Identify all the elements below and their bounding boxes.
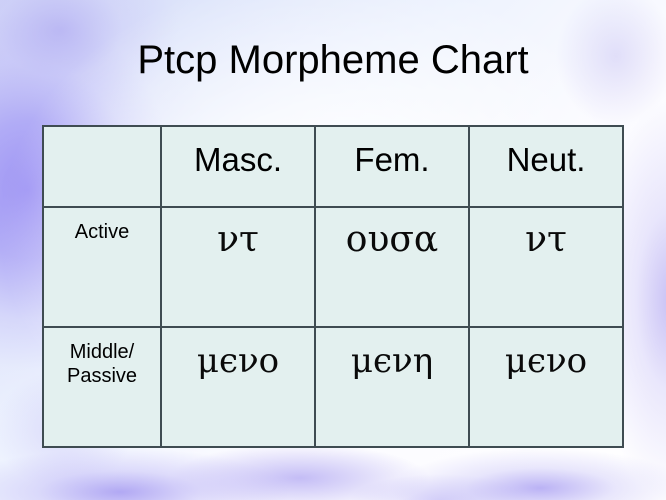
cell-active-fem-text: ουσα (316, 208, 468, 258)
column-header-fem: Fem. (315, 126, 469, 207)
row-header-active-label: Active (44, 208, 160, 244)
table-header-row: Masc. Fem. Neut. (43, 126, 623, 207)
cell-active-neut: ντ (469, 207, 623, 327)
column-header-fem-label: Fem. (316, 127, 468, 176)
cell-middle-passive-masc-text: μϵνο (162, 328, 314, 378)
row-header-active: Active (43, 207, 161, 327)
cell-middle-passive-neut-text: μϵνο (470, 328, 622, 378)
cell-middle-passive-fem: μϵνη (315, 327, 469, 447)
morpheme-chart-table: Masc. Fem. Neut. Active ντ ουσα (42, 125, 624, 448)
column-header-masc: Masc. (161, 126, 315, 207)
cell-active-neut-text: ντ (470, 208, 622, 258)
column-header-neut-label: Neut. (470, 127, 622, 176)
row-header-middle-passive: Middle/ Passive (43, 327, 161, 447)
column-header-neut: Neut. (469, 126, 623, 207)
table-row-middle-passive: Middle/ Passive μϵνο μϵνη μϵνο (43, 327, 623, 447)
cell-active-masc: ντ (161, 207, 315, 327)
table-row-active: Active ντ ουσα ντ (43, 207, 623, 327)
slide-title: Ptcp Morpheme Chart (0, 36, 666, 84)
column-header-masc-label: Masc. (162, 127, 314, 176)
cell-middle-passive-neut: μϵνο (469, 327, 623, 447)
row-header-middle-passive-line1: Middle/ (44, 328, 160, 364)
table-corner-cell (43, 126, 161, 207)
cell-middle-passive-masc: μϵνο (161, 327, 315, 447)
cell-middle-passive-fem-text: μϵνη (316, 328, 468, 378)
row-header-middle-passive-line2: Passive (44, 364, 160, 388)
cell-active-fem: ουσα (315, 207, 469, 327)
cell-active-masc-text: ντ (162, 208, 314, 258)
slide-canvas: Ptcp Morpheme Chart Masc. Fem. Neut. Act… (0, 0, 666, 500)
